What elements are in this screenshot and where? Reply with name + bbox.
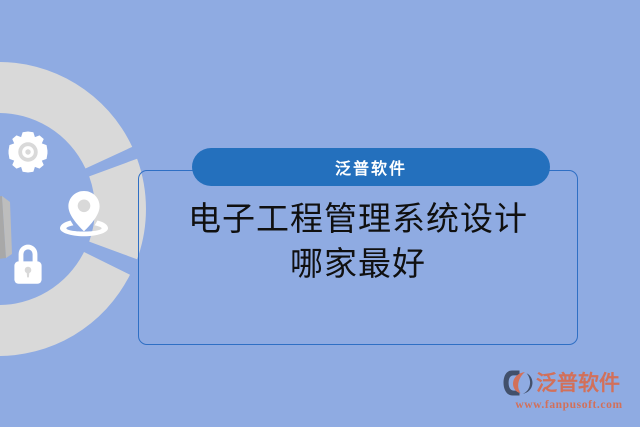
gear-icon: [9, 132, 48, 173]
brand-logo-row: 泛普软件: [503, 368, 635, 398]
brand-pill-label: 泛普软件: [335, 155, 407, 179]
brand-pill: 泛普软件: [192, 148, 550, 186]
donut-center-accent: [0, 196, 12, 262]
brand-logo: 泛普软件 www.fanpusoft.com: [503, 368, 635, 416]
brand-logo-wordmark: 泛普软件: [536, 369, 620, 397]
page-title: 电子工程管理系统设计 哪家最好: [138, 196, 578, 286]
slide-canvas: 泛普软件 电子工程管理系统设计 哪家最好 泛普软件 www.fanpusoft.…: [0, 0, 640, 427]
page-title-line-2: 哪家最好: [138, 241, 578, 286]
page-title-line-1: 电子工程管理系统设计: [138, 196, 578, 241]
fanpu-logo-icon: [503, 369, 533, 397]
brand-logo-url: www.fanpusoft.com: [503, 399, 635, 411]
donut-decoration: [0, 62, 146, 356]
lock-icon: [14, 245, 41, 284]
